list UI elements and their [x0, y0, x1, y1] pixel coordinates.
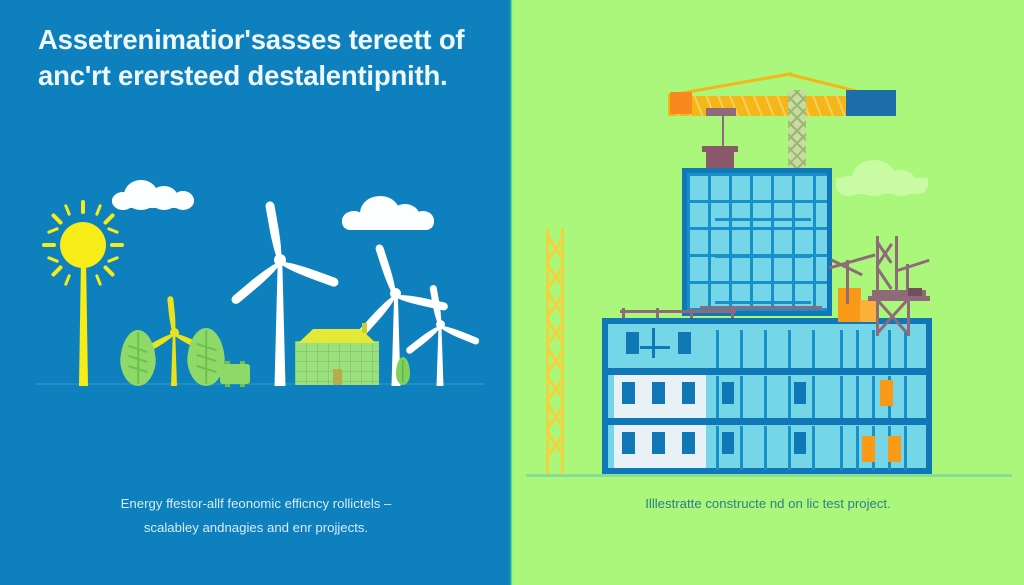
- panel-seam: [509, 0, 513, 585]
- battery-icon: [220, 364, 250, 384]
- roof-rail-secondary: [700, 306, 822, 309]
- headline: Assetrenimatior'sasses tereett of anc'rt…: [38, 22, 478, 94]
- headline-line-2: anc'rt erersteed destalentipnith.: [38, 58, 478, 94]
- material-stack-orange-1: [838, 288, 861, 322]
- headline-line-1: Assetrenimatior'sasses tereett of: [38, 24, 464, 55]
- wind-turbine-small: [404, 282, 476, 386]
- right-ground-line: [526, 474, 1012, 477]
- cloud-icon: [110, 178, 196, 208]
- high-rise-building: [682, 168, 832, 316]
- crane-counterweight: [846, 90, 896, 116]
- material-panel-orange-2: [862, 436, 875, 462]
- scaffold-tower-yellow: [546, 228, 564, 474]
- crane-jib-tip: [670, 92, 692, 114]
- left-caption-line-2: scalabley andnagies and enr projjects.: [28, 516, 484, 540]
- cloud-icon-2: [340, 196, 436, 230]
- right-caption-line-1: Illlestratte constructe nd on lic test p…: [538, 492, 998, 516]
- house-icon: [295, 341, 379, 385]
- left-caption: Energy ffestor-allf feonomic efficncy ro…: [28, 492, 484, 540]
- crane-jib-topchord: [668, 74, 868, 98]
- shrub-icon: [396, 357, 410, 385]
- tree-icon: [120, 330, 156, 386]
- crane-trolley: [706, 108, 736, 116]
- left-panel: Assetrenimatior'sasses tereett of anc'rt…: [0, 0, 512, 585]
- cloud-icon-green: [834, 160, 930, 194]
- left-caption-line-1: Energy ffestor-allf feonomic efficncy ro…: [28, 492, 484, 516]
- crane-jib: [668, 96, 868, 116]
- right-caption: Illlestratte constructe nd on lic test p…: [538, 492, 998, 516]
- podium-building: [602, 318, 932, 474]
- illustration-canvas: Assetrenimatior'sasses tereett of anc'rt…: [0, 0, 1024, 585]
- material-panel-orange-3: [888, 436, 901, 462]
- material-stack-orange-2: [860, 300, 876, 322]
- material-panel-orange-1: [880, 380, 893, 406]
